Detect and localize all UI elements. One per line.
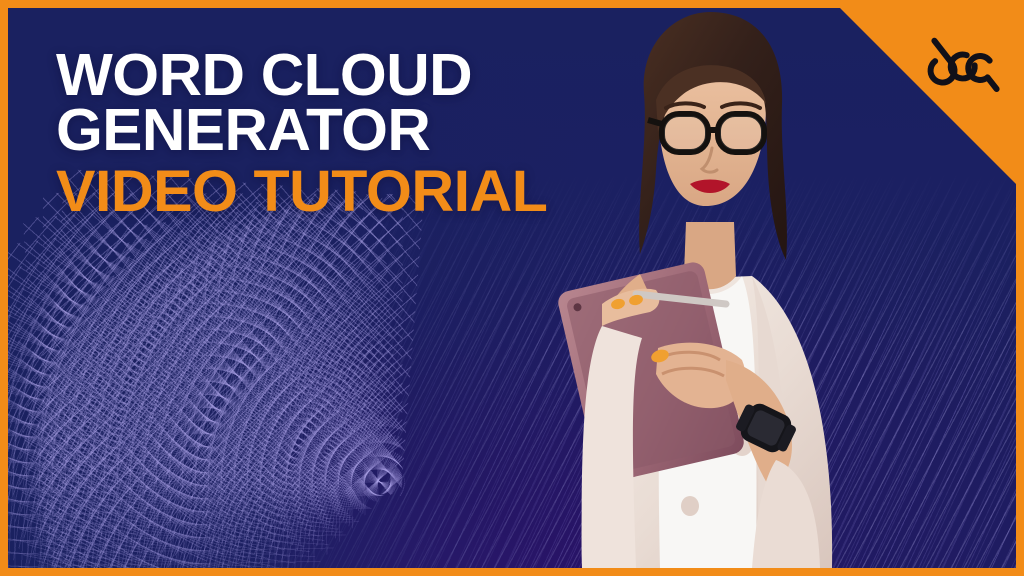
grid-sheet (8, 200, 405, 568)
grid-sheet (8, 220, 405, 568)
dcp-logo[interactable] (912, 16, 1004, 108)
grid-sheet (8, 196, 404, 566)
grid-sheet (8, 230, 405, 568)
grid-sheet (8, 253, 405, 568)
grid-sheet (8, 266, 404, 568)
grid-fan-decoration (42, 194, 512, 524)
grid-sheet (8, 241, 405, 568)
frame-border-left (0, 0, 8, 576)
headline-line-2: GENERATOR (56, 103, 627, 158)
headline-line-3: VIDEO TUTORIAL (56, 165, 627, 219)
video-thumbnail: WORD CLOUD GENERATOR VIDEO TUTORIAL (0, 0, 1024, 576)
frame-border-top (0, 0, 1024, 8)
grid-sheet (8, 194, 403, 542)
grid-sheet (23, 193, 403, 517)
headline-line-1: WORD CLOUD (56, 48, 627, 103)
thumbnail-canvas: WORD CLOUD GENERATOR VIDEO TUTORIAL (8, 8, 1016, 568)
headline-block: WORD CLOUD GENERATOR VIDEO TUTORIAL (56, 48, 616, 219)
grid-sheet (8, 212, 405, 568)
grid-sheet (8, 205, 405, 568)
grid-sheet (42, 193, 403, 494)
frame-border-bottom (0, 568, 1024, 576)
frame-border-right (1016, 0, 1024, 576)
